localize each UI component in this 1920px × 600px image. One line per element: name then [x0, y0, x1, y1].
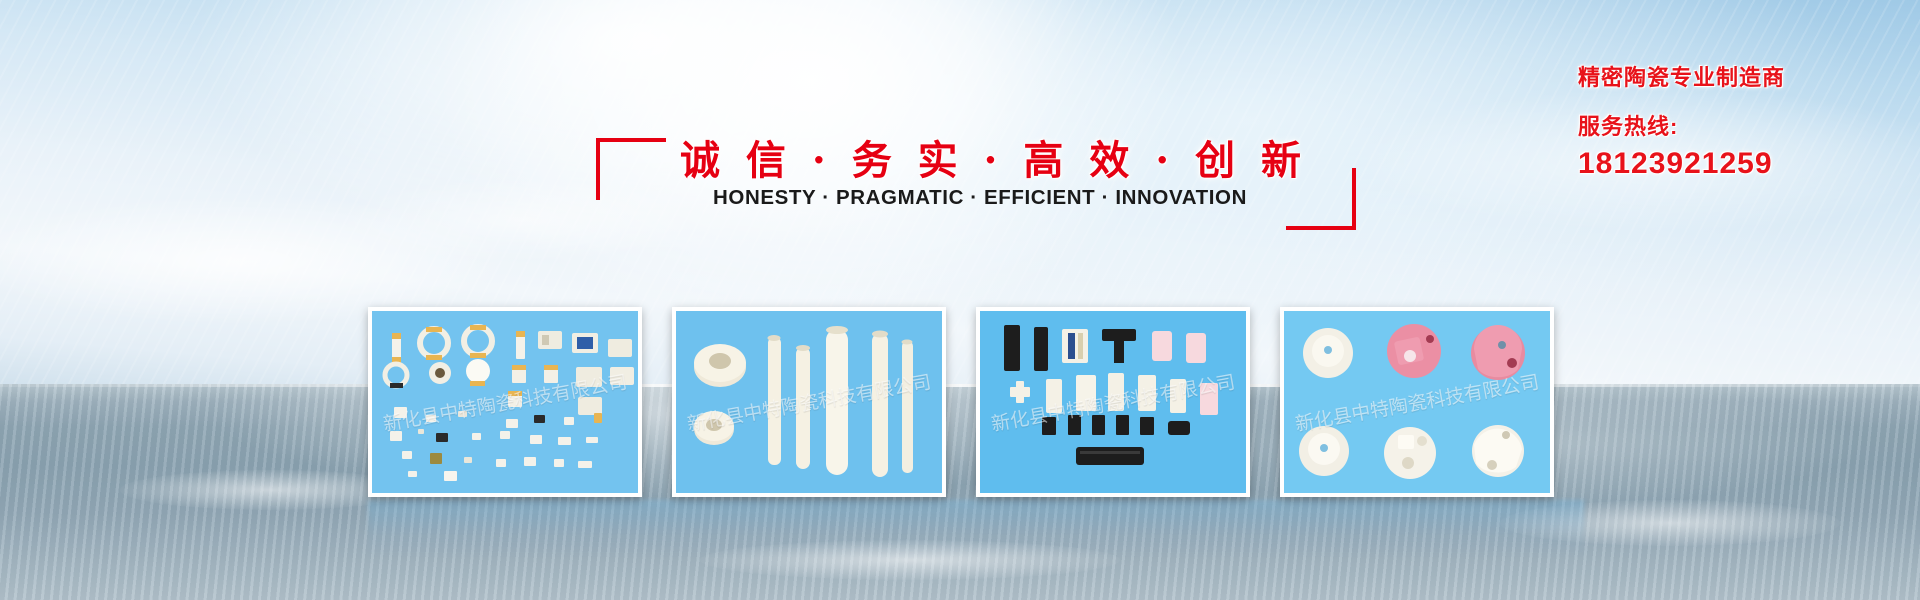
company-tagline: 精密陶瓷专业制造商: [1578, 60, 1898, 92]
bracket-top-left: [596, 138, 666, 200]
hotline-label: 服务热线:: [1578, 109, 1898, 141]
panels-reflection: [368, 500, 1584, 556]
hotline-number: 18123921259: [1578, 147, 1898, 181]
contact-block: 精密陶瓷专业制造商 服务热线: 18123921259: [1578, 60, 1898, 181]
product-panel-2[interactable]: 新化县中特陶瓷科技有限公司: [672, 307, 946, 497]
product-gallery: 新化县中特陶瓷科技有限公司 新化县中特陶瓷科技有限公司: [368, 307, 1584, 497]
product-panel-3[interactable]: 新化县中特陶瓷科技有限公司: [976, 307, 1250, 497]
slogan-chinese: 诚 信 · 务 实 · 高 效 · 创 新: [680, 128, 1280, 186]
slogan-block: 诚 信 · 务 实 · 高 效 · 创 新 HONESTY · PRAGMATI…: [596, 128, 1356, 236]
product-panel-1[interactable]: 新化县中特陶瓷科技有限公司: [368, 307, 642, 497]
product-panel-4[interactable]: 新化县中特陶瓷科技有限公司: [1280, 307, 1554, 497]
slogan-english: HONESTY · PRAGMATIC · EFFICIENT · INNOVA…: [670, 186, 1290, 210]
promo-banner: 诚 信 · 务 实 · 高 效 · 创 新 HONESTY · PRAGMATI…: [0, 0, 1920, 600]
